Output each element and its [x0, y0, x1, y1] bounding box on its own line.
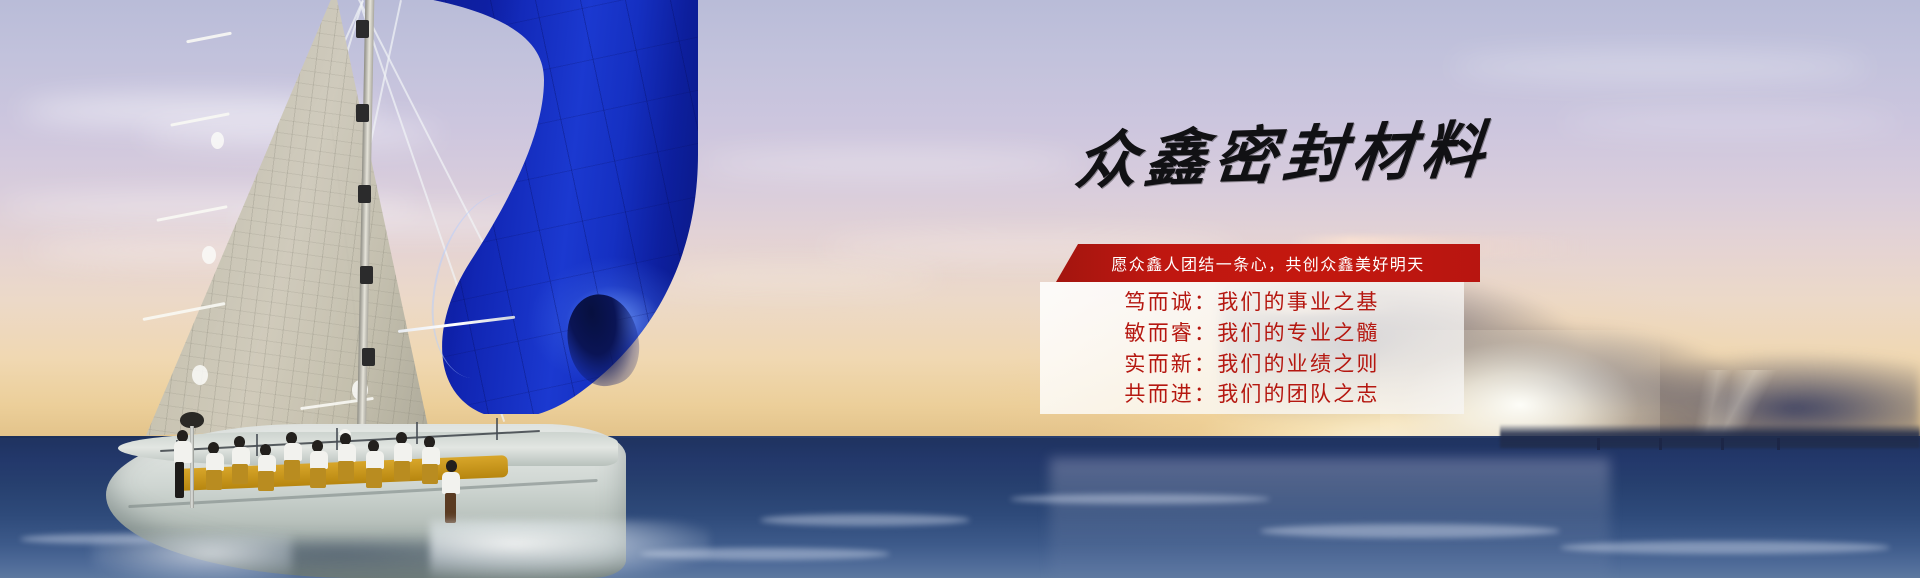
- crew-head: [446, 460, 457, 472]
- pier-piling: [1597, 438, 1600, 450]
- rail-stanchion: [256, 434, 258, 456]
- crew-legs: [394, 461, 410, 481]
- banner-text-block: 众鑫密封材料 愿众鑫人团结一条心，共创众鑫美好明天 笃而诚：我们的事业之基 敏而…: [1040, 120, 1480, 460]
- crew-legs: [258, 471, 274, 491]
- crew-legs: [206, 470, 222, 490]
- mast-fitting: [356, 20, 369, 38]
- crew-torso: [394, 443, 412, 462]
- crew-legs: [338, 461, 354, 481]
- sail-batten: [156, 205, 227, 222]
- spinnaker-edge-highlight: [424, 184, 561, 385]
- sail-window: [202, 246, 216, 264]
- pier-piling: [1721, 438, 1724, 450]
- crew-legs: [310, 468, 326, 488]
- crew-torso: [258, 455, 276, 472]
- bow-wave: [430, 520, 710, 578]
- ocean-sun-reflection: [1050, 458, 1610, 578]
- pier-silhouette: [1500, 424, 1920, 448]
- wave-foam: [1560, 541, 1890, 554]
- crew-legs: [445, 493, 456, 523]
- crew-torso: [206, 453, 224, 471]
- slogan-line-2: 敏而睿：我们的专业之髓: [1124, 319, 1379, 349]
- mast-fitting: [356, 104, 369, 122]
- crew-legs: [284, 460, 300, 480]
- rail-stanchion: [416, 422, 418, 444]
- sail-window: [211, 132, 224, 149]
- crew-torso: [442, 472, 460, 494]
- sailing-yacht: [0, 0, 760, 578]
- mast-fitting: [358, 185, 371, 203]
- tagline-text: 愿众鑫人团结一条心，共创众鑫美好明天: [1111, 251, 1424, 275]
- slogan-line-4: 共而进：我们的团队之志: [1124, 380, 1379, 410]
- crew-torso: [310, 451, 328, 469]
- crew-torso: [174, 441, 192, 463]
- slogan-line-3: 实而新：我们的业绩之则: [1124, 350, 1379, 380]
- bow-light-pole: [190, 426, 194, 508]
- blue-spinnaker-sail: [398, 0, 698, 414]
- crew-torso: [366, 451, 384, 469]
- sail-window: [192, 365, 208, 385]
- bow-wave: [92, 534, 292, 578]
- mast-fitting: [360, 266, 373, 284]
- sail-batten: [186, 32, 232, 44]
- wave-foam: [760, 514, 970, 526]
- wave-foam: [1010, 494, 1270, 504]
- crew-torso: [422, 447, 440, 465]
- crew-torso: [232, 447, 250, 465]
- wave-foam: [1260, 524, 1560, 538]
- crew-legs: [232, 464, 248, 484]
- tagline-bar: 愿众鑫人团结一条心，共创众鑫美好明天: [1056, 244, 1480, 282]
- crew-legs: [366, 468, 382, 488]
- rail-stanchion: [496, 418, 498, 440]
- mast-fitting: [362, 348, 375, 366]
- slogan-line-1: 笃而诚：我们的事业之基: [1124, 288, 1379, 318]
- crew-legs: [175, 462, 184, 498]
- hero-banner: 众鑫密封材料 愿众鑫人团结一条心，共创众鑫美好明天 笃而诚：我们的事业之基 敏而…: [0, 0, 1920, 578]
- sail-batten: [170, 112, 229, 126]
- crew-legs: [422, 464, 438, 484]
- slogan-panel: 笃而诚：我们的事业之基 敏而睿：我们的专业之髓 实而新：我们的业绩之则 共而进：…: [1040, 282, 1464, 414]
- pier-piling: [1659, 438, 1662, 450]
- crew-torso: [338, 444, 356, 462]
- crew-torso: [284, 443, 302, 461]
- pier-piling: [1777, 438, 1780, 450]
